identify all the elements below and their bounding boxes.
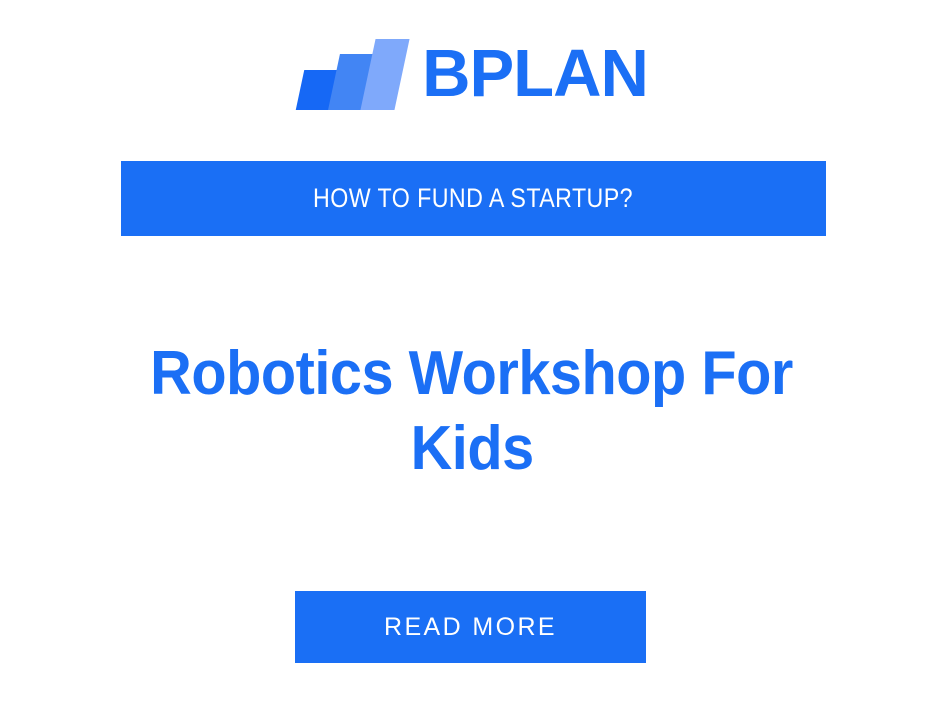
page-title: Robotics Workshop For Kids bbox=[92, 336, 852, 486]
ad-creative-canvas: BPLAN HOW TO FUND A STARTUP? Robotics Wo… bbox=[0, 0, 944, 708]
bar-chart-logo-icon bbox=[296, 38, 396, 110]
page-title-line-2: Kids bbox=[410, 411, 533, 486]
banner-bar: HOW TO FUND A STARTUP? bbox=[121, 161, 826, 236]
read-more-button-label: READ MORE bbox=[384, 613, 557, 642]
logo-bar-large bbox=[361, 39, 410, 110]
brand-wordmark: BPLAN bbox=[422, 39, 648, 109]
page-title-line-1: Robotics Workshop For bbox=[151, 336, 794, 411]
banner-text: HOW TO FUND A STARTUP? bbox=[314, 183, 634, 214]
brand-logo: BPLAN bbox=[0, 28, 944, 120]
read-more-button[interactable]: READ MORE bbox=[295, 591, 646, 663]
